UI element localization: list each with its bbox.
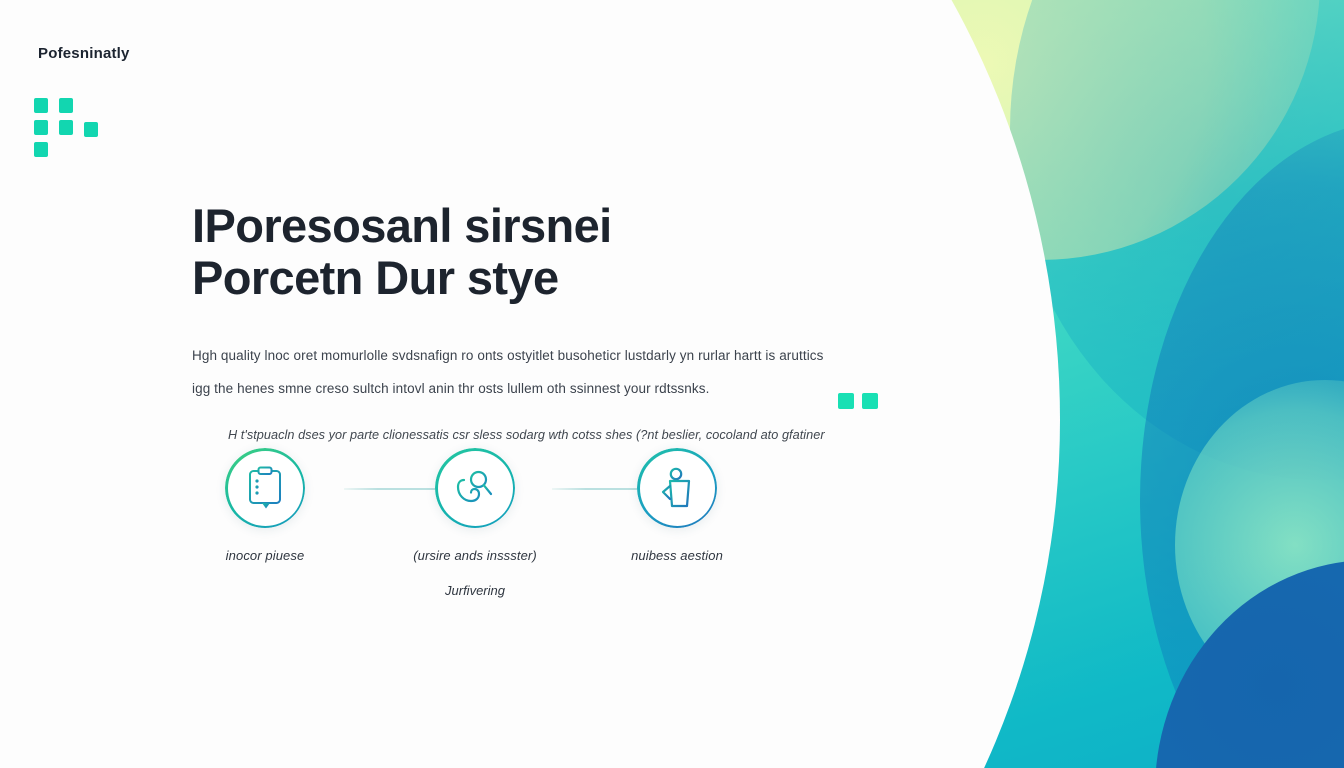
hero-paragraph-line-2: igg the henes smne creso sultch intovl a… xyxy=(192,372,882,405)
hero-subnote: H t'stpuacln dses yor parte clionessatis… xyxy=(228,428,912,442)
step-circle-3[interactable] xyxy=(637,448,717,528)
logo-dot xyxy=(34,98,48,113)
step-sublabel-2: Jurfivering xyxy=(390,583,560,598)
brand-block: Pofesninatly xyxy=(38,45,130,62)
step-circle-2[interactable] xyxy=(435,448,515,528)
document-report-icon xyxy=(656,466,698,510)
accent-square-icon xyxy=(862,393,878,409)
dot-grid-logo-icon xyxy=(34,98,96,150)
step-circle-1[interactable] xyxy=(225,448,305,528)
logo-dot xyxy=(84,122,98,137)
search-person-icon xyxy=(454,467,496,509)
headline-line-2: Porcetn Dur stye xyxy=(192,252,912,304)
logo-dot xyxy=(34,120,48,135)
step-label-3: nuibess aestion xyxy=(592,546,762,567)
accent-square-icon xyxy=(838,393,854,409)
step-label-2: (ursire ands inssster) xyxy=(390,546,560,567)
brand-name: Pofesninatly xyxy=(38,45,130,62)
step-item-1[interactable]: inocor piuese xyxy=(180,448,350,567)
logo-dot xyxy=(59,120,73,135)
headline-line-1: IPoresosanl sirsnei xyxy=(192,199,612,252)
presentation-slide: Pofesninatly IPoresosanl sirsnei Porcetn… xyxy=(0,0,1344,768)
slide-content: Pofesninatly IPoresosanl sirsnei Porcetn… xyxy=(0,0,1344,768)
step-label-1: inocor piuese xyxy=(180,546,350,567)
clipboard-checklist-icon xyxy=(245,466,285,510)
logo-dot xyxy=(59,98,73,113)
step-item-3[interactable]: nuibess aestion xyxy=(592,448,762,567)
hero-paragraph-line-1: Hgh quality lnoc oret momurlolle svdsnaf… xyxy=(192,339,882,372)
logo-dot xyxy=(34,142,48,157)
steps-row: inocor piuese xyxy=(232,448,852,598)
hero-text-column: IPoresosanl sirsnei Porcetn Dur stye Hgh… xyxy=(192,200,912,442)
page-title: IPoresosanl sirsnei Porcetn Dur stye xyxy=(192,200,912,303)
hero-paragraph: Hgh quality lnoc oret momurlolle svdsnaf… xyxy=(192,339,882,405)
step-item-2[interactable]: (ursire ands inssster) Jurfivering xyxy=(390,448,560,598)
accent-squares-group xyxy=(838,393,878,411)
